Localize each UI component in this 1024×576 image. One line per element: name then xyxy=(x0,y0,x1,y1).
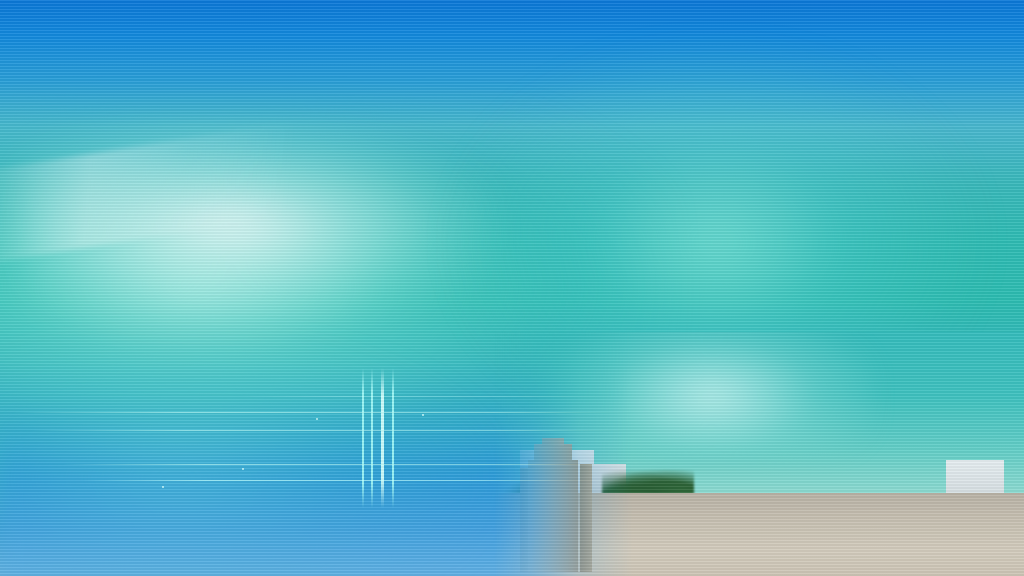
tech-dot xyxy=(316,418,318,420)
tech-vertical-line xyxy=(371,368,373,508)
pylon-cap xyxy=(534,444,572,462)
pylon-fin xyxy=(580,464,592,572)
photo-sky-glow xyxy=(547,332,876,454)
tech-dot xyxy=(162,486,164,488)
tech-vertical-line xyxy=(381,368,384,508)
tech-vertical-line xyxy=(362,368,364,508)
tech-dot xyxy=(242,468,244,470)
tech-vertical-line xyxy=(392,368,394,508)
tech-dot xyxy=(422,414,424,416)
gate-pylon-left xyxy=(520,438,592,572)
lecture-title-card: 1901 山东大学 SHANDONG UNIVERSITY 医学微生物学 贾继辉 xyxy=(0,0,1024,576)
campus-gate-photo xyxy=(494,332,1024,576)
pylon-cap xyxy=(542,438,564,446)
tech-line-motif xyxy=(362,368,492,508)
pylon-doorway xyxy=(540,536,562,570)
